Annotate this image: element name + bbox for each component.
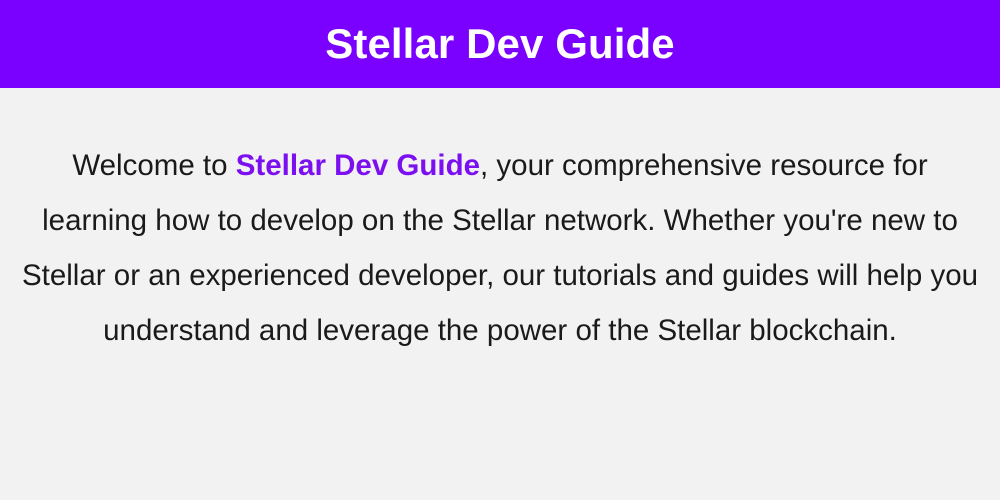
page-title: Stellar Dev Guide [325, 23, 675, 65]
site-header: Stellar Dev Guide [0, 0, 1000, 88]
main-content: Welcome to Stellar Dev Guide, your compr… [0, 88, 1000, 500]
brand-name-highlight: Stellar Dev Guide [236, 149, 480, 182]
intro-paragraph: Welcome to Stellar Dev Guide, your compr… [21, 138, 979, 358]
page-root: Stellar Dev Guide Welcome to Stellar Dev… [0, 0, 1000, 500]
intro-text-before: Welcome to [72, 149, 235, 182]
